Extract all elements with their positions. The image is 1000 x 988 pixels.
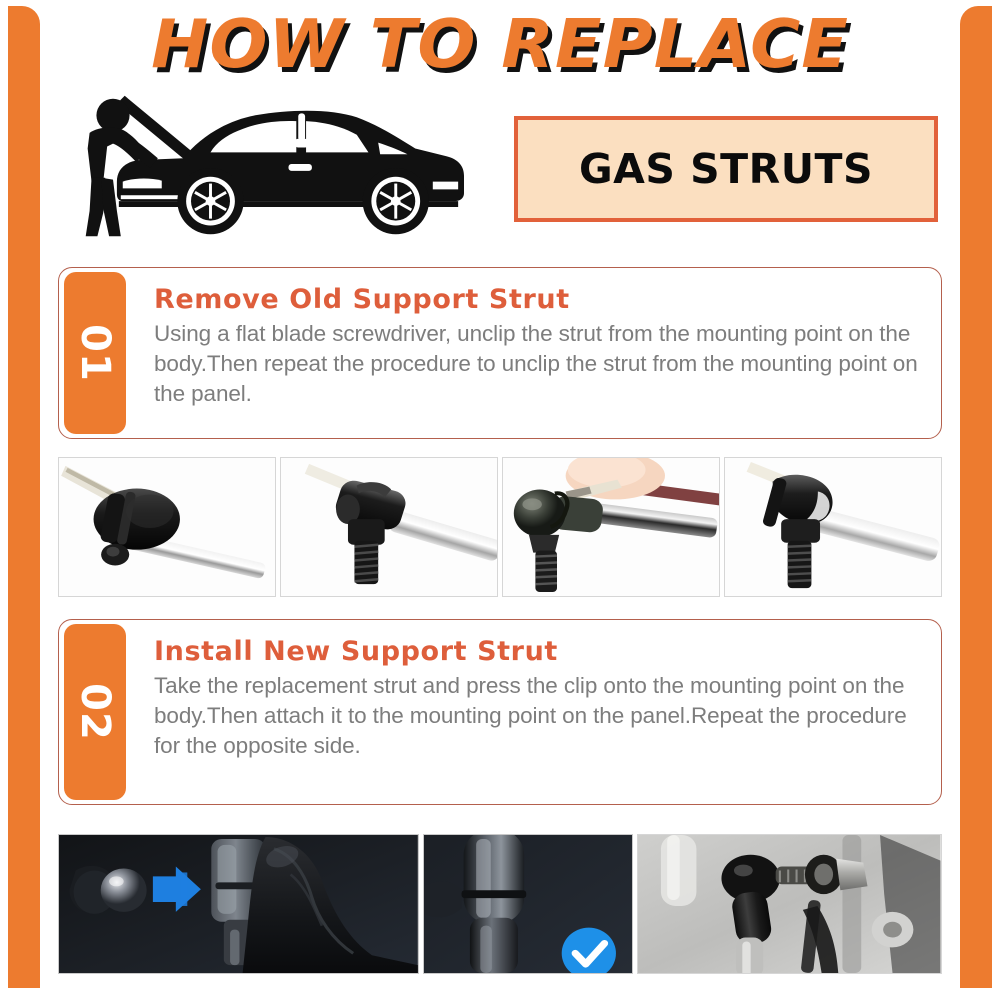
person-opening-car-hood-silhouette-icon <box>64 88 474 244</box>
header: HOW TO REPLACE <box>58 2 942 86</box>
photo-installed-strut-on-bracket <box>637 834 942 974</box>
step-number-label: 01 <box>72 324 118 382</box>
step-02-photo-strip <box>58 834 942 974</box>
left-accent-bar <box>8 6 40 988</box>
product-name-label: GAS STRUTS <box>579 145 873 193</box>
step-number-badge-01: 01 <box>64 272 126 434</box>
step-number-label: 02 <box>72 683 118 741</box>
step-description: Take the replacement strut and press the… <box>154 671 919 761</box>
step-card-01: 01 Remove Old Support Strut Using a flat… <box>58 267 942 439</box>
photo-screwdriver-unclipping-ball-joint <box>502 457 720 597</box>
photo-strut-ball-socket-cap <box>58 457 276 597</box>
right-accent-bar <box>960 6 992 988</box>
photo-strut-clip-threaded-stud <box>280 457 498 597</box>
step-heading: Install New Support Strut <box>154 636 919 667</box>
step-01-photo-strip <box>58 457 942 597</box>
hero-row: GAS STRUTS <box>58 86 942 246</box>
photo-gloved-hand-pressing-strut <box>58 834 419 974</box>
step-card-02: 02 Install New Support Strut Take the re… <box>58 619 942 805</box>
infographic-canvas: HOW TO REPLACE <box>58 0 942 988</box>
step-heading: Remove Old Support Strut <box>154 284 919 315</box>
photo-strut-seated-confirmed <box>423 834 634 974</box>
step-number-badge-02: 02 <box>64 624 126 800</box>
step-content-02: Install New Support Strut Take the repla… <box>154 632 919 794</box>
product-name-box: GAS STRUTS <box>514 116 938 222</box>
page-title: HOW TO REPLACE <box>151 5 849 83</box>
step-description: Using a flat blade screwdriver, unclip t… <box>154 319 919 409</box>
photo-strut-socket-off-ball-stud <box>724 457 942 597</box>
step-content-01: Remove Old Support Strut Using a flat bl… <box>154 280 919 428</box>
